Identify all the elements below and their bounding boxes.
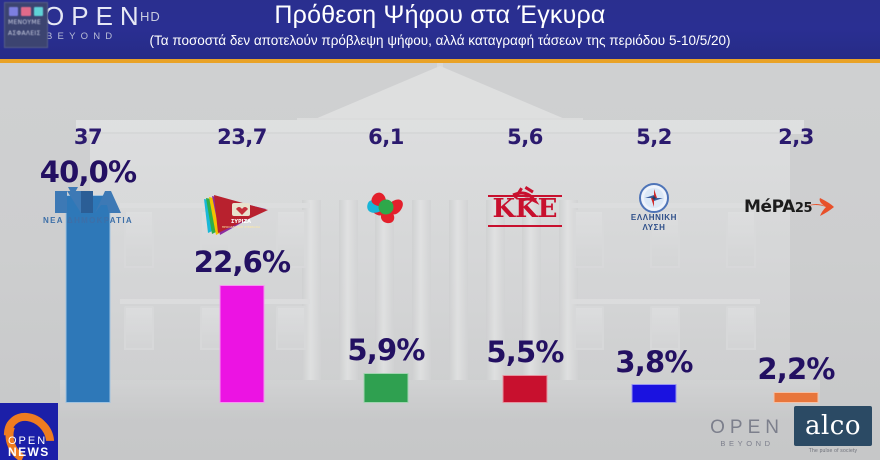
mera25-word: MéPA xyxy=(744,197,795,217)
open-beyond-footer-wordmark: OPEN xyxy=(710,418,784,438)
dot xyxy=(9,7,18,16)
mera25-logo-text: MéPA25 xyxy=(744,197,812,217)
badge-line-1: ΜΕΝΟΥΜΕ xyxy=(5,16,47,27)
syriza-logo: ΣΥΡΙΖΑ ΠΡΟΟΔΕΥΤΙΚΗ ΣΥΜΜΑΧΙΑ xyxy=(186,183,298,239)
syriza-logo-mark: ΣΥΡΙΖΑ ΠΡΟΟΔΕΥΤΙΚΗ ΣΥΜΜΑΧΙΑ xyxy=(186,183,298,239)
bar-elliniki-lysi xyxy=(632,384,677,403)
pct-label-kke: 5,5% xyxy=(455,335,595,369)
open-beyond-footer-logo: OPEN BEYOND xyxy=(710,418,784,448)
elliniki-lysi-logo: ΕΛΛΗΝΙΚΗ ΛΥΣΗ xyxy=(598,183,710,239)
seats-label-kinal: 6,1 xyxy=(316,125,456,149)
bar-chart: 37 40,0% ΝΕΑ ΔΗΜΟΚΡΑΤΙΑ 23,7 22,6% xyxy=(0,63,880,403)
bar-kke xyxy=(503,375,548,403)
pct-label-elliniki-lysi: 3,8% xyxy=(584,345,724,379)
header-band: OPEN BEYOND HD Πρόθεση Ψήφου στα Έγκυρα … xyxy=(0,0,880,59)
bar-group-kke: 5,6 5,5% ΚΚΕ xyxy=(455,125,595,403)
mera25-number: 25 xyxy=(795,201,812,216)
pct-label-syriza: 22,6% xyxy=(172,245,312,279)
dot xyxy=(21,7,30,16)
seats-label-elliniki-lysi: 5,2 xyxy=(584,125,724,149)
elliniki-lysi-logo-text: ΕΛΛΗΝΙΚΗ ΛΥΣΗ xyxy=(598,213,710,233)
kinal-logo xyxy=(330,183,442,239)
alco-box: alco xyxy=(794,406,872,446)
page-title: Πρόθεση Ψήφου στα Έγκυρα xyxy=(0,1,880,30)
seats-label-kke: 5,6 xyxy=(455,125,595,149)
bar-kinal xyxy=(364,373,409,403)
kke-logo: ΚΚΕ xyxy=(469,183,581,239)
footer-band: OPEN NEWS OPEN BEYOND alco The pulse of … xyxy=(0,403,880,460)
gold-divider xyxy=(0,59,880,63)
bar-group-nea-dimokratia: 37 40,0% ΝΕΑ ΔΗΜΟΚΡΑΤΙΑ xyxy=(18,125,158,403)
nd-logo-text: ΝΕΑ ΔΗΜΟΚΡΑΤΙΑ xyxy=(32,216,144,225)
badge-line-2: ΑΣΦΑΛΕΙΣ xyxy=(5,27,47,38)
nd-logo: ΝΕΑ ΔΗΜΟΚΡΑΤΙΑ xyxy=(32,183,144,239)
alco-wordmark: alco xyxy=(805,413,861,439)
pct-label-kinal: 5,9% xyxy=(316,333,456,367)
bar-group-mera25: 2,3 2,2% MéPA25 xyxy=(726,125,866,403)
alco-tagline: The pulse of society xyxy=(794,448,872,454)
poll-graphic: OPEN BEYOND HD Πρόθεση Ψήφου στα Έγκυρα … xyxy=(0,0,880,460)
bar-syriza xyxy=(220,285,265,403)
open-news-wordmark: OPEN NEWS xyxy=(8,436,50,458)
badge-color-dots xyxy=(5,3,47,16)
svg-text:ΠΡΟΟΔΕΥΤΙΚΗ ΣΥΜΜΑΧΙΑ: ΠΡΟΟΔΕΥΤΙΚΗ ΣΥΜΜΑΧΙΑ xyxy=(222,225,261,229)
nd-logo-mark xyxy=(51,185,125,215)
kke-rule-bottom xyxy=(488,225,562,227)
alco-pollster-logo: alco The pulse of society xyxy=(794,406,872,458)
seats-label-mera25: 2,3 xyxy=(726,125,866,149)
pct-label-mera25: 2,2% xyxy=(726,352,866,386)
bar-mera25 xyxy=(774,392,819,403)
page-subtitle: (Τα ποσοστά δεν αποτελούν πρόβλεψη ψήφου… xyxy=(0,33,880,48)
el-line-2: ΛΥΣΗ xyxy=(598,223,710,233)
open-news-logo: OPEN NEWS xyxy=(0,403,58,460)
bar-group-elliniki-lysi: 5,2 3,8% ΕΛΛΗΝΙΚΗ ΛΥΣΗ xyxy=(584,125,724,403)
el-line-1: ΕΛΛΗΝΙΚΗ xyxy=(598,213,710,223)
open-beyond-footer-subwordmark: BEYOND xyxy=(710,439,784,448)
seats-label-syriza: 23,7 xyxy=(172,125,312,149)
open-news-line-2: NEWS xyxy=(8,447,50,458)
bar-group-kinal: 6,1 5,9% xyxy=(316,125,456,403)
mera25-logo: MéPA25 xyxy=(740,183,852,239)
dot xyxy=(34,7,43,16)
kke-logo-text: ΚΚΕ xyxy=(469,196,581,222)
kinal-logo-mark xyxy=(330,183,442,239)
seats-label-nea-dimokratia: 37 xyxy=(18,125,158,149)
bar-group-syriza: 23,7 22,6% ΣΥΡΙΖΑ ΠΡΟΟΔΕΥΤΙΚΗ ΣΥΜΜΑΧΙΑ xyxy=(172,125,312,403)
stay-safe-badge: ΜΕΝΟΥΜΕ ΑΣΦΑΛΕΙΣ xyxy=(4,2,48,48)
